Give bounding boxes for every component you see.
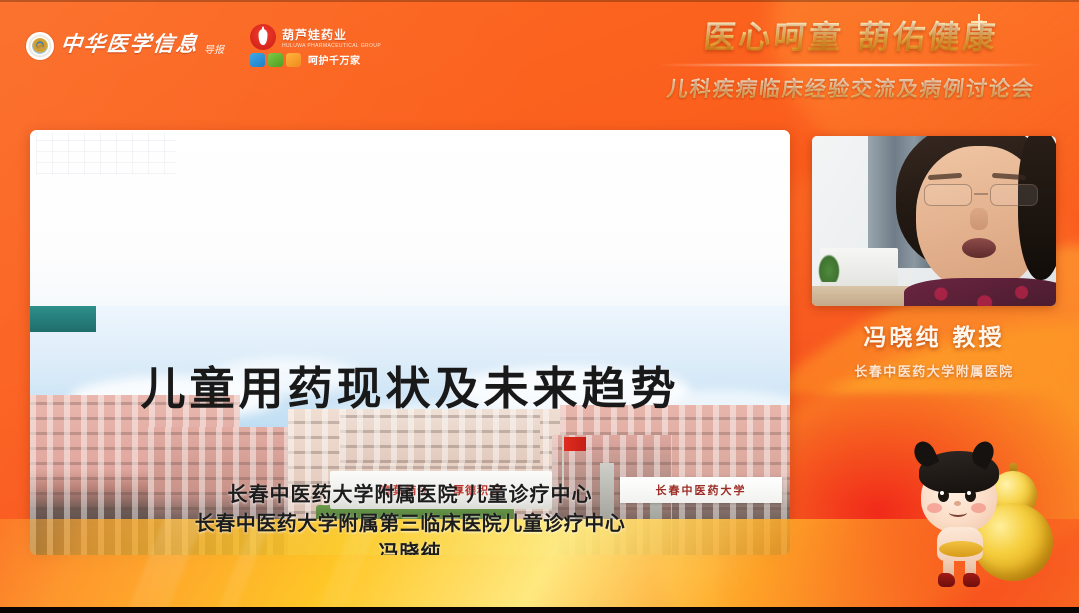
speaker-organization: 长春中医药大学附属医院 (812, 361, 1056, 380)
slide-subtitle-line2: 长春中医药大学附属第三临床医院儿童诊疗中心 (30, 509, 790, 538)
logo-china-medical-information: 中华医学信息 导报 (26, 32, 224, 60)
huluwa-logo-top: 葫芦娃药业 HULUWA PHARMACEUTICAL GROUP (250, 24, 381, 50)
mascot-nose (954, 501, 961, 506)
mascot-eye-right (965, 489, 976, 502)
header-logo-row: 中华医学信息 导报 葫芦娃药业 HULUWA PHARMACEUTICAL GR… (26, 24, 381, 67)
huluwa-logo-bottom: 呵护千万家 (250, 52, 381, 67)
glasses-lens-right (990, 184, 1038, 206)
mascot-leaf-skirt (939, 541, 983, 557)
speaker-nose (970, 208, 988, 230)
mascot-boot-left (938, 573, 955, 587)
chip-orange-icon (286, 53, 301, 67)
huluwa-gourd-icon (250, 24, 276, 50)
chip-blue-icon (250, 53, 265, 67)
mascot-character (913, 453, 1009, 587)
speaker-mouth (962, 238, 996, 258)
huluwa-name: 葫芦娃药业 (282, 26, 381, 43)
slide-presenter-name: 冯晓纯 (30, 538, 790, 555)
glasses-lens-left (924, 184, 972, 206)
bottom-letterbox-bar (0, 607, 1079, 613)
slide-subtitle-block: 长春中医药大学附属医院 儿童诊疗中心 长春中医药大学附属第三临床医院儿童诊疗中心… (30, 480, 790, 555)
speaker-video-feed[interactable] (812, 136, 1056, 306)
presentation-slide[interactable]: 春葉楠今 厚德积淀 长春中医药大学 儿童用药现状及未来趋势 长春中医药大学附属医… (30, 130, 790, 555)
broadcast-stage: 中华医学信息 导报 葫芦娃药业 HULUWA PHARMACEUTICAL GR… (0, 0, 1079, 613)
glasses-bridge (974, 193, 988, 195)
campus-building-center-upper (340, 409, 540, 463)
campus-building-teal-panel (30, 306, 96, 332)
cmi-seal-icon (26, 32, 54, 60)
mascot-cheek-left (927, 503, 942, 513)
chip-green-icon (268, 53, 283, 67)
speaker-glasses-icon (922, 184, 1040, 206)
logo-huluwa-pharmaceutical: 葫芦娃药业 HULUWA PHARMACEUTICAL GROUP 呵护千万家 (250, 24, 381, 67)
top-letterbox-bar (0, 0, 1079, 2)
sparkle-icon (971, 14, 987, 30)
speaker-hair-right (1018, 136, 1056, 280)
huluwa-tagline: 呵护千万家 (308, 52, 361, 67)
cmi-wordmark-suffix: 导报 (204, 41, 224, 56)
mascot-mouth (949, 508, 967, 517)
speaker-caption: 冯晓纯 教授 长春中医药大学附属医院 (812, 318, 1056, 380)
mascot-boot-right (963, 573, 980, 587)
mascot-eye-left (938, 489, 949, 502)
speaker-clothing (904, 278, 1056, 306)
cmi-wordmark: 中华医学信息 (59, 28, 200, 58)
header-divider (641, 60, 1061, 70)
event-header: 医心呵童 葫佑健康 儿科疾病临床经验交流及病例讨论会 (641, 12, 1061, 103)
cmi-wordmark-group: 中华医学信息 导报 (61, 34, 224, 58)
flag-icon (564, 437, 586, 451)
event-subtitle: 儿科疾病临床经验交流及病例讨论会 (639, 73, 1062, 103)
slide-subtitle-line1: 长春中医药大学附属医院 儿童诊疗中心 (30, 480, 790, 509)
window-grid (340, 409, 540, 463)
slide-upper-panel (30, 130, 790, 306)
huluwa-english-name: HULUWA PHARMACEUTICAL GROUP (282, 43, 381, 49)
mascot-cheek-right (971, 503, 986, 513)
slide-watermark-grid (36, 132, 176, 174)
video-plant (818, 254, 840, 282)
slide-title: 儿童用药现状及未来趋势 (30, 352, 790, 417)
speaker-name: 冯晓纯 教授 (812, 318, 1056, 352)
huluwa-mascot (899, 445, 1063, 595)
event-title: 医心呵童 葫佑健康 (639, 12, 1064, 58)
